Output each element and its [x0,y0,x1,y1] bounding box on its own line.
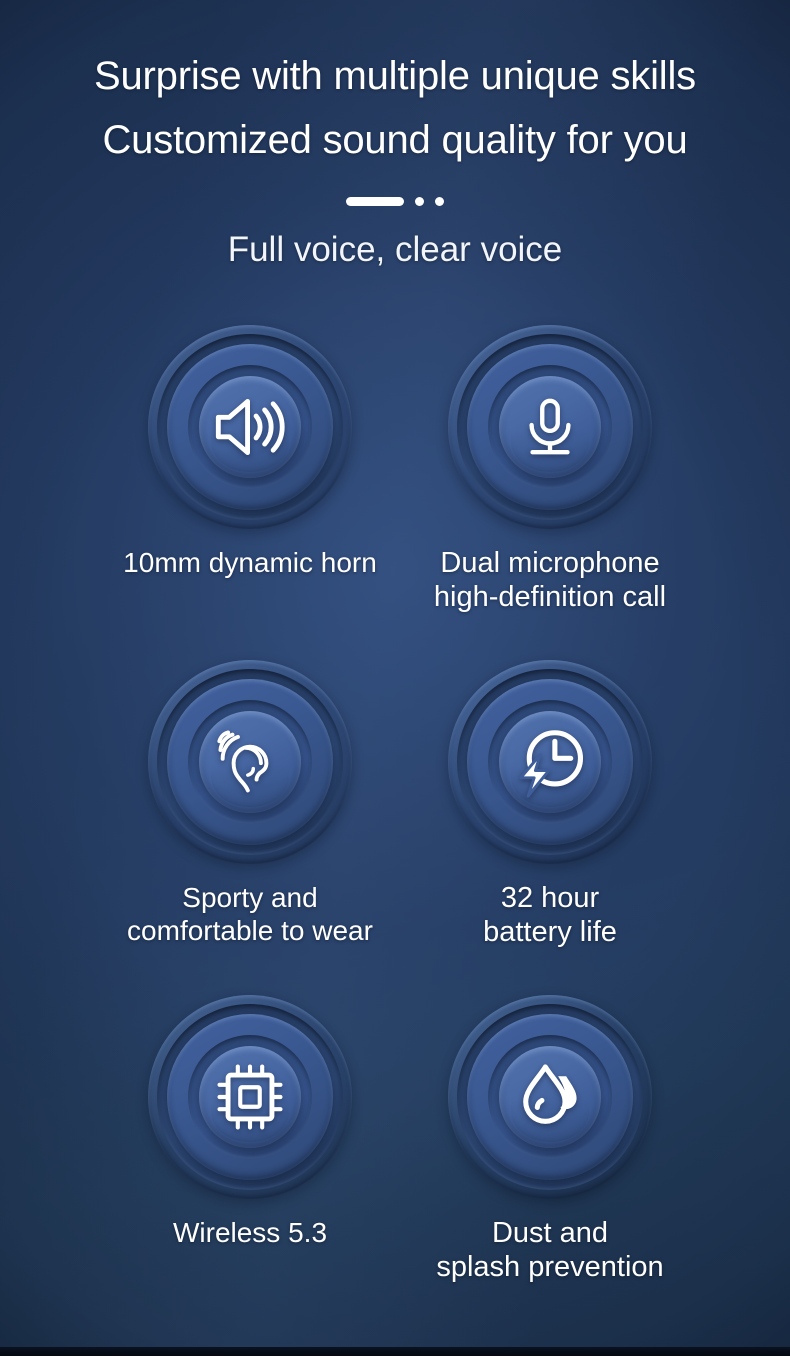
feature-highlight-page: Surprise with multiple unique skills Cus… [0,0,790,1356]
water-droplet-icon [513,1060,587,1134]
feature-icon-badge [448,995,652,1199]
feature-row: 10mm dynamic horn [0,325,790,660]
speaker-volume-icon [211,388,289,466]
ear-hearing-icon [215,727,285,797]
feature-label: 10mm dynamic horn [100,547,400,580]
feature-label: Sporty and comfortable to wear [100,882,400,948]
badge-inner-disc [199,711,301,813]
badge-inner-disc [499,1046,601,1148]
badge-inner-disc [499,376,601,478]
divider-dot-icon [415,197,424,206]
microphone-icon [519,396,581,458]
feature-icon-badge [148,325,352,529]
feature-icon-badge [448,660,652,864]
feature-row: Sporty and comfortable to wear [0,660,790,995]
badge-inner-disc [499,711,601,813]
feature-label: Dust and splash prevention [400,1217,700,1285]
clock-lightning-icon [511,723,589,801]
badge-inner-disc [199,376,301,478]
feature-grid: 10mm dynamic horn [0,325,790,1325]
feature-icon-badge [148,995,352,1199]
feature-label: 32 hour battery life [400,882,700,950]
divider-bar-icon [346,197,404,206]
divider [0,197,790,206]
feature-row: Wireless 5.3 Dust and [0,995,790,1325]
headline-line-2: Customized sound quality for you [0,120,790,161]
feature-label: Wireless 5.3 [100,1217,400,1250]
feature-item-wireless-version: Wireless 5.3 [100,995,400,1250]
subheadline: Full voice, clear voice [0,232,790,269]
feature-item-comfortable-fit: Sporty and comfortable to wear [100,660,400,948]
feature-item-dual-microphone: Dual microphone high-definition call [400,325,700,615]
heading-block: Surprise with multiple unique skills Cus… [0,0,790,269]
feature-label: Dual microphone high-definition call [400,547,700,615]
feature-item-battery-life: 32 hour battery life [400,660,700,950]
feature-item-dynamic-horn: 10mm dynamic horn [100,325,400,580]
feature-icon-badge [448,325,652,529]
feature-icon-badge [148,660,352,864]
divider-dot-icon [435,197,444,206]
feature-item-water-resistance: Dust and splash prevention [400,995,700,1285]
badge-inner-disc [199,1046,301,1148]
headline-line-1: Surprise with multiple unique skills [0,56,790,97]
chip-processor-icon [211,1058,289,1136]
